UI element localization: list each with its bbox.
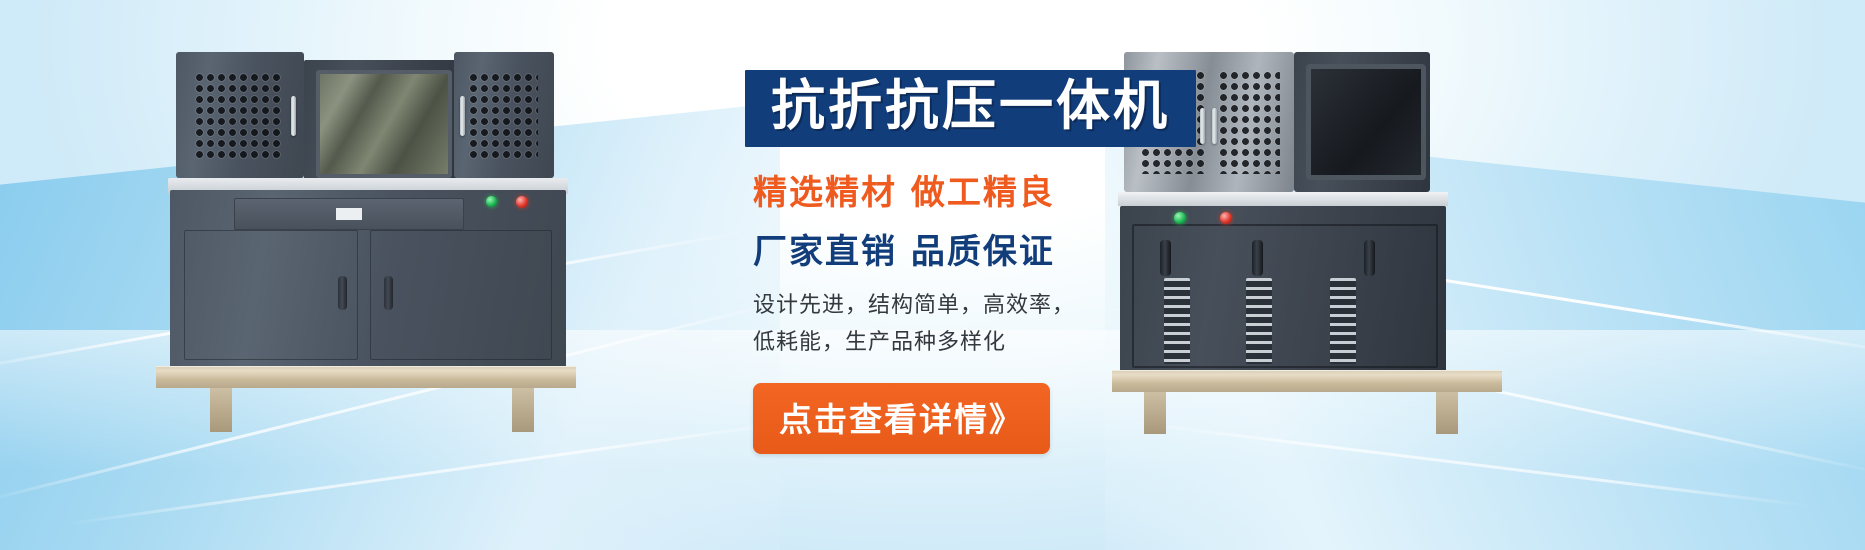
title-banner: 抗折抗压一体机 (745, 70, 1196, 147)
subtitle-orange: 精选精材 做工精良 (745, 165, 1265, 214)
drawer-label-plate (336, 208, 362, 220)
subtitle-blue: 厂家直销 品质保证 (745, 224, 1265, 273)
wooden-pallet (156, 366, 576, 388)
page-title: 抗折抗压一体机 (771, 78, 1170, 135)
door-handle-left (338, 276, 347, 310)
upper-cabinet-left-door (176, 52, 304, 178)
perforated-grille (468, 72, 538, 160)
banner-content: 抗折抗压一体机 精选精材 做工精良 厂家直销 品质保证 设计先进，结构简单，高效… (745, 70, 1265, 454)
promo-banner: 抗折抗压一体机 精选精材 做工精良 厂家直销 品质保证 设计先进，结构简单，高效… (0, 0, 1865, 550)
monitor-bezel (1306, 64, 1426, 180)
upper-cabinet-right-door (454, 52, 554, 178)
pallet-leg (1436, 392, 1458, 434)
control-screen-glass (320, 74, 448, 174)
description-line-1: 设计先进，结构简单，高效率， (745, 287, 1265, 324)
indicator-led-red (516, 196, 528, 208)
ventilation-louver (1330, 278, 1356, 364)
pallet-leg (512, 388, 534, 432)
view-details-button[interactable]: 点击查看详情》 (753, 383, 1050, 454)
control-screen-bezel (316, 70, 452, 178)
monitor-screen (1311, 69, 1421, 175)
cabinet-handle (460, 96, 465, 136)
cabinet-handle (291, 96, 296, 136)
door-handle-right (1364, 240, 1375, 276)
product-image-left (168, 48, 588, 428)
door-handle-right (384, 276, 393, 310)
pallet-leg (210, 388, 232, 432)
indicator-led-green (486, 196, 497, 207)
perforated-grille (194, 72, 282, 160)
lower-door-right (370, 230, 552, 360)
description-line-2: 低耗能，生产品种多样化 (745, 324, 1265, 361)
lower-door-left (184, 230, 358, 360)
